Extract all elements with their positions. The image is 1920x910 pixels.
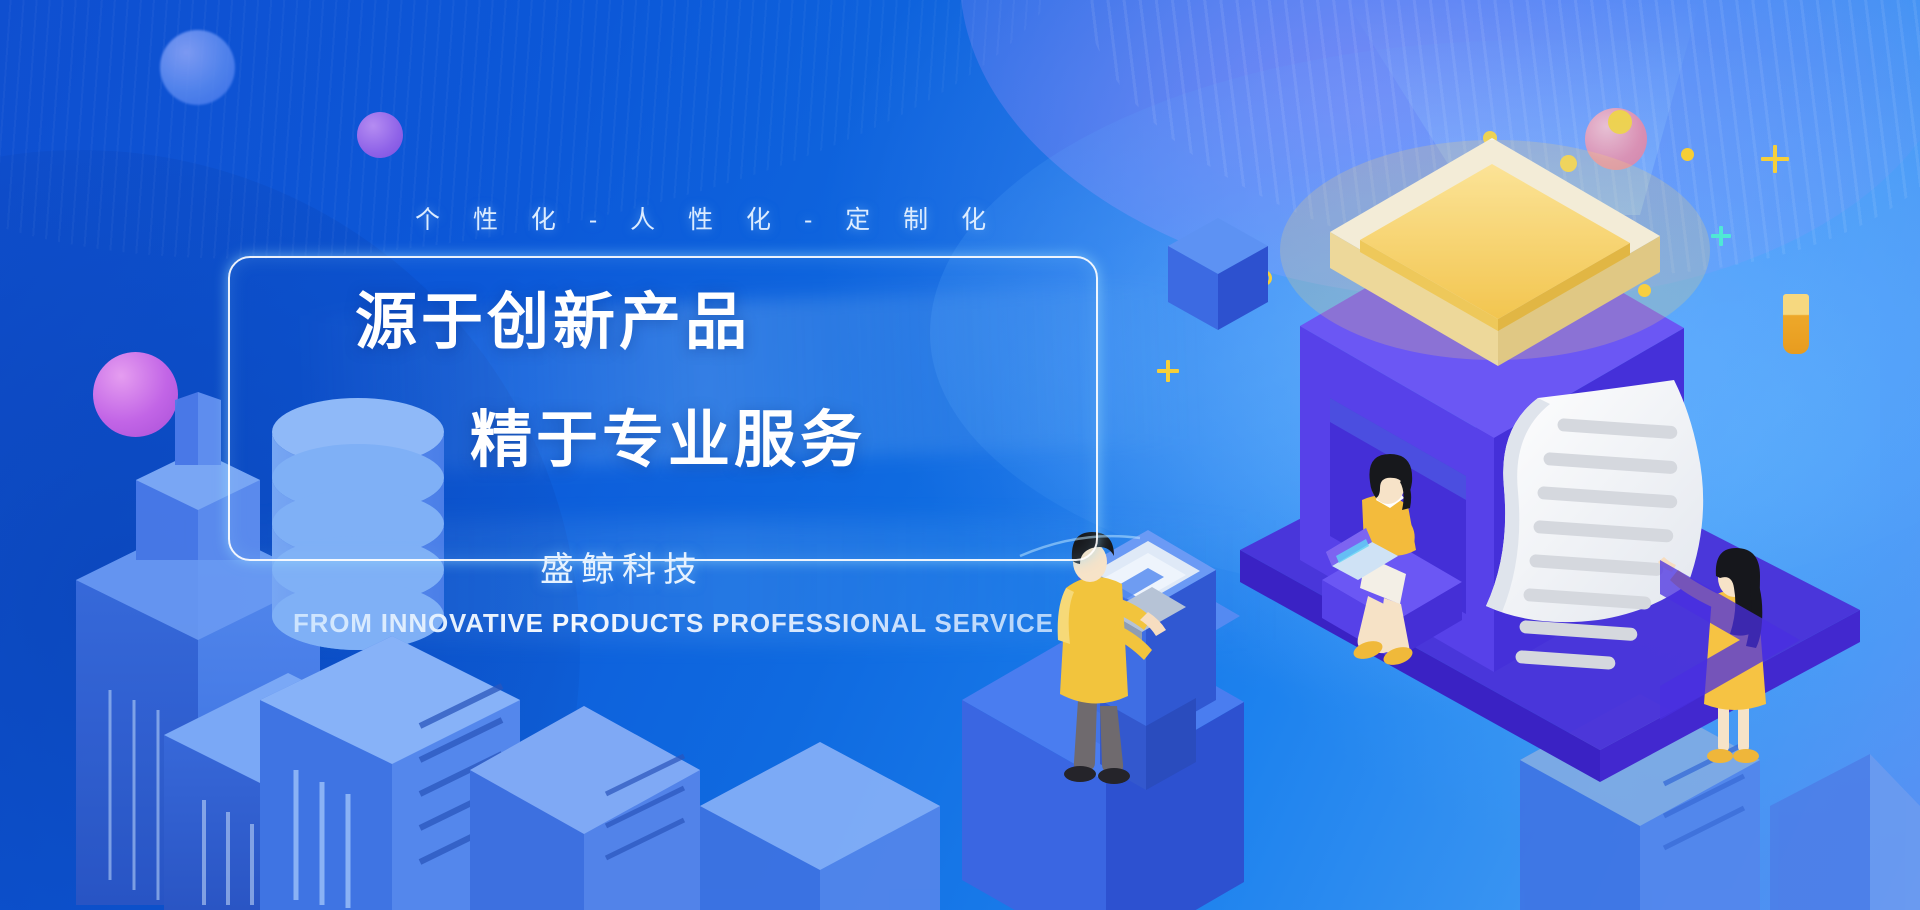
- seated-woman-figure: [1326, 454, 1416, 668]
- yellow-cylinder-icon: [1783, 294, 1809, 354]
- plus-icon: [1711, 226, 1731, 246]
- hero-tagline: 个 性 化 - 人 性 化 - 定 制 化: [415, 200, 999, 236]
- standing-woman-figure: [1658, 548, 1766, 763]
- headline-line-1: 源于创新产品: [355, 292, 751, 354]
- pink-sphere-icon: [1585, 108, 1647, 170]
- hero-text-block: 个 性 化 - 人 性 化 - 定 制 化 源于创新产品 精于专业服务 盛鲸科技…: [0, 0, 1150, 700]
- plus-icon: [1157, 360, 1179, 382]
- yellow-dot-icon: [1552, 284, 1564, 296]
- yellow-dot-icon: [1560, 155, 1577, 172]
- wave-lines-top-right: [1051, 0, 1920, 330]
- yellow-dot-icon: [1502, 174, 1522, 194]
- yellow-dot-icon: [1478, 186, 1488, 196]
- yellow-dot-icon: [1500, 258, 1512, 270]
- plus-icon: [1761, 145, 1789, 173]
- yellow-dot-icon: [1511, 292, 1529, 310]
- yellow-dot-icon: [1638, 284, 1651, 297]
- yellow-dot-icon: [1608, 110, 1632, 134]
- yellow-dot-icon: [1416, 206, 1427, 217]
- headline-line-2: 精于专业服务: [470, 410, 866, 472]
- ring-icon: [1256, 270, 1272, 286]
- yellow-dot-icon: [1485, 216, 1511, 242]
- yellow-dot-icon: [1681, 148, 1694, 161]
- company-name: 盛鲸科技: [540, 542, 704, 591]
- hero-banner: 个 性 化 - 人 性 化 - 定 制 化 源于创新产品 精于专业服务 盛鲸科技…: [0, 0, 1920, 910]
- hero-subtitle-english: FROM INNOVATIVE PRODUCTS PROFESSIONAL SE…: [293, 608, 1054, 639]
- receipt-scroll: [1486, 380, 1703, 670]
- yellow-dot-icon: [1483, 131, 1497, 145]
- yellow-dot-icon: [1462, 262, 1490, 290]
